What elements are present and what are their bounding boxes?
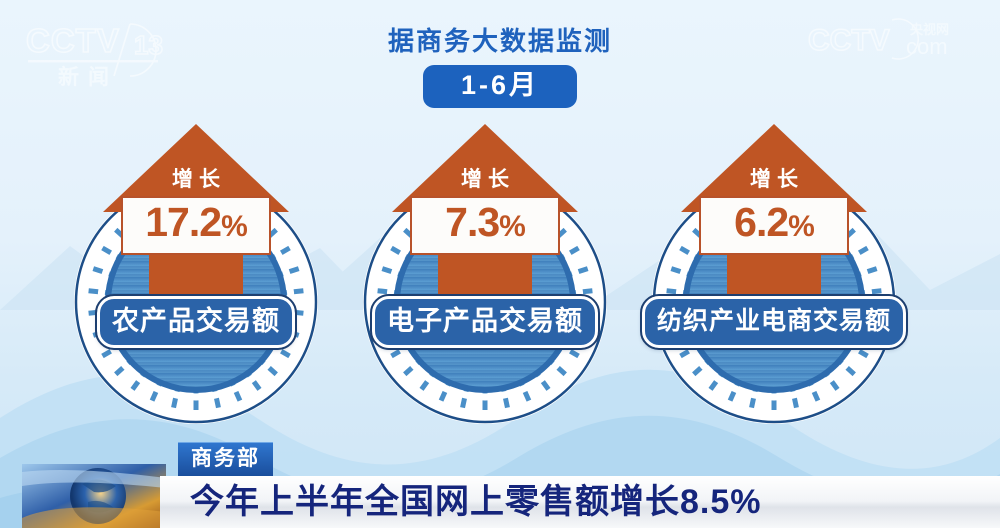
period-badge: 1-6月 (423, 65, 577, 108)
growth-label: 增长 (624, 168, 924, 192)
value-text: 7.3% (414, 200, 556, 249)
stat-card[interactable]: 增长 7.3% 电子产品交易额 (335, 120, 635, 400)
value-box: 17.2% (121, 196, 271, 255)
card-name-label: 纺织产业电商交易额 (642, 296, 906, 348)
headline-text: 今年上半年全国网上零售额增长8.5% (160, 482, 762, 522)
header: 据商务大数据监测 1-6月 (0, 26, 1000, 108)
growth-label: 增长 (335, 168, 635, 192)
stat-card-group: 增长 17.2% 农产品交易额 (0, 120, 1000, 400)
headline-bar: 今年上半年全国网上零售额增长8.5% (160, 476, 1000, 528)
growth-label: 增长 (46, 168, 346, 192)
stat-card[interactable]: 增长 6.2% 纺织产业电商交易额 (624, 120, 924, 400)
card-name-label: 农产品交易额 (97, 296, 295, 348)
lower-third: 商务部 今年上半年全国网上零售额增长8.5% (0, 444, 1000, 528)
source-tag: 商务部 (178, 442, 273, 476)
page-title: 据商务大数据监测 (0, 26, 1000, 56)
broadcast-graphic-stage: CCTV 13 新闻 CCTV 央视网 com 据商务大数据监测 1-6月 (0, 0, 1000, 528)
globe-graphic-icon (22, 464, 166, 528)
value-box: 6.2% (699, 196, 849, 255)
value-text: 6.2% (703, 200, 845, 249)
card-name-label: 电子产品交易额 (372, 296, 598, 348)
value-box: 7.3% (410, 196, 560, 255)
value-text: 17.2% (125, 200, 267, 249)
stat-card[interactable]: 增长 17.2% 农产品交易额 (46, 120, 346, 400)
